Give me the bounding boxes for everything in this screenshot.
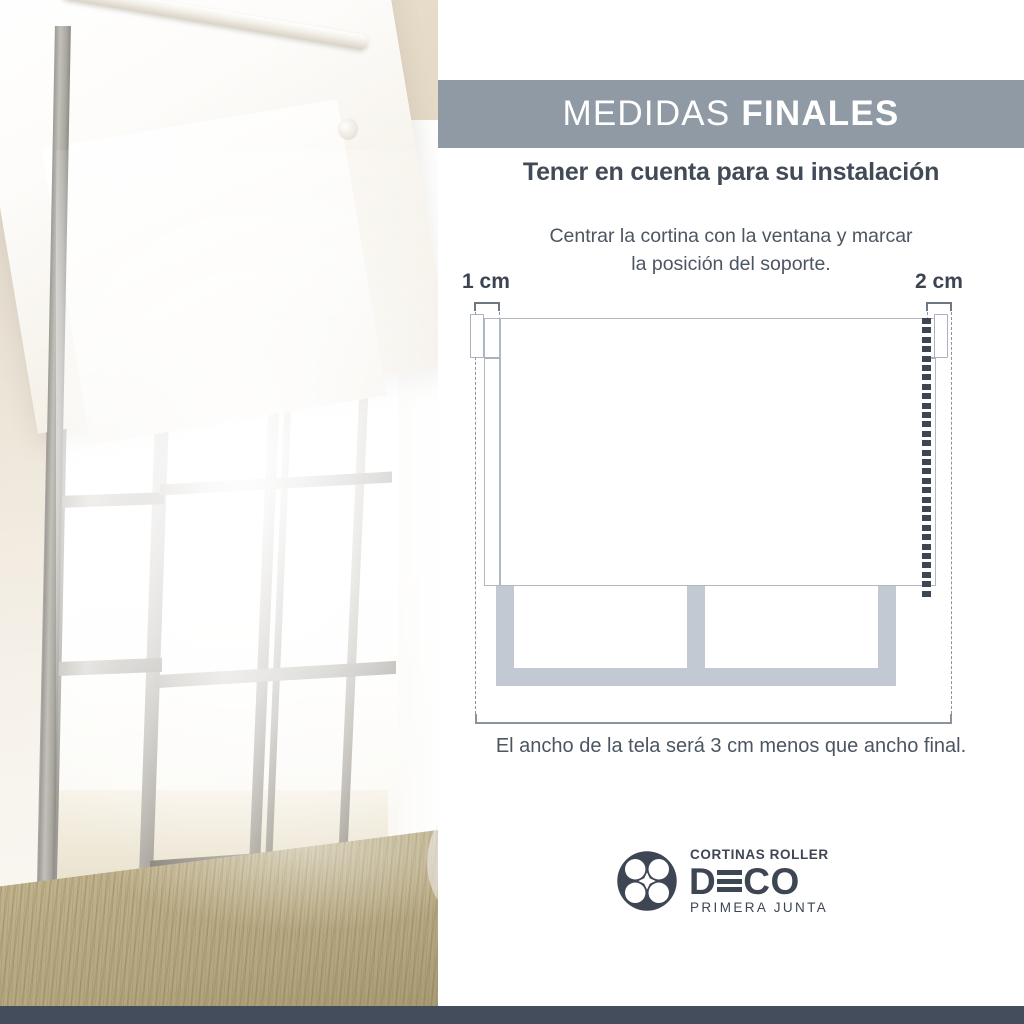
- bracket-right: [934, 314, 948, 358]
- chain-bead: [922, 572, 931, 578]
- product-photo: [0, 0, 438, 1006]
- left-dimension-label: 1 cm: [462, 270, 510, 294]
- page-title: MEDIDAS FINALES: [563, 94, 900, 134]
- info-panel: MEDIDAS FINALES Tener en cuenta para su …: [438, 0, 1024, 1006]
- photo-roller-end-cap: [338, 118, 358, 140]
- intro-line-1: Centrar la cortina con la ventana y marc…: [438, 222, 1024, 250]
- chain-bead: [922, 365, 931, 371]
- chain-bead: [922, 534, 931, 540]
- guide-line-outer-right: [951, 312, 952, 724]
- chain-bead: [922, 497, 931, 503]
- window-pane-left: [514, 578, 687, 668]
- chain-bead: [922, 515, 931, 521]
- title-bold-part: FINALES: [741, 94, 899, 133]
- photo-roller-blind-fabric-lower: [41, 99, 386, 444]
- right-dimension-bracket: [926, 302, 952, 311]
- chain-bead: [922, 591, 931, 597]
- chain-bead: [922, 487, 931, 493]
- header-banner: MEDIDAS FINALES: [438, 80, 1024, 148]
- chain-bead: [922, 450, 931, 456]
- chain-bead: [922, 393, 931, 399]
- bead-chain: [922, 318, 931, 602]
- logo-wordmark: CORTINAS ROLLER D CO PRIMERA JUNTA: [690, 848, 829, 914]
- blind-fabric: [484, 318, 936, 586]
- deco-flower-logo-icon: [616, 850, 678, 912]
- chain-bead: [922, 356, 931, 362]
- chain-bead: [922, 468, 931, 474]
- brand-logo: CORTINAS ROLLER D CO PRIMERA JUNTA: [616, 845, 846, 917]
- chain-bead: [922, 346, 931, 352]
- logo-letters-co: CO: [743, 863, 800, 900]
- chain-bead: [922, 421, 931, 427]
- bracket-arm-left: [484, 357, 500, 359]
- left-dimension-bracket: [474, 302, 500, 311]
- chain-bead: [922, 337, 931, 343]
- bracket-left: [470, 314, 484, 358]
- chain-bead: [922, 525, 931, 531]
- chain-bead: [922, 412, 931, 418]
- chain-bead: [922, 581, 931, 587]
- chain-bead: [922, 459, 931, 465]
- chain-bead: [922, 544, 931, 550]
- guide-line-outer-left: [475, 312, 476, 724]
- logo-main-word: D CO: [689, 863, 829, 900]
- logo-letter-d: D: [689, 863, 716, 900]
- total-width-bracket: [475, 714, 952, 724]
- logo-bottom-line: PRIMERA JUNTA: [690, 901, 829, 915]
- chain-bead: [922, 478, 931, 484]
- footer-bar: [0, 1006, 1024, 1024]
- logo-e-bars-icon: [717, 868, 742, 894]
- subtitle: Tener en cuenta para su instalación: [438, 158, 1024, 187]
- chain-bead: [922, 562, 931, 568]
- chain-bead: [922, 431, 931, 437]
- chain-bead: [922, 506, 931, 512]
- installation-diagram: 1 cm 2 cm: [438, 262, 1024, 732]
- title-light-part: MEDIDAS: [563, 94, 731, 133]
- chain-bead: [922, 384, 931, 390]
- chain-bead: [922, 440, 931, 446]
- chain-bead: [922, 327, 931, 333]
- chain-bead: [922, 553, 931, 559]
- caption-text: El ancho de la tela será 3 cm menos que …: [438, 735, 1024, 758]
- right-dimension-label: 2 cm: [915, 270, 963, 294]
- window-pane-right: [705, 578, 878, 668]
- chain-bead: [922, 374, 931, 380]
- chain-bead: [922, 403, 931, 409]
- chain-bead: [922, 318, 931, 324]
- logo-top-line: CORTINAS ROLLER: [690, 848, 829, 862]
- poster-canvas: MEDIDAS FINALES Tener en cuenta para su …: [0, 0, 1024, 1024]
